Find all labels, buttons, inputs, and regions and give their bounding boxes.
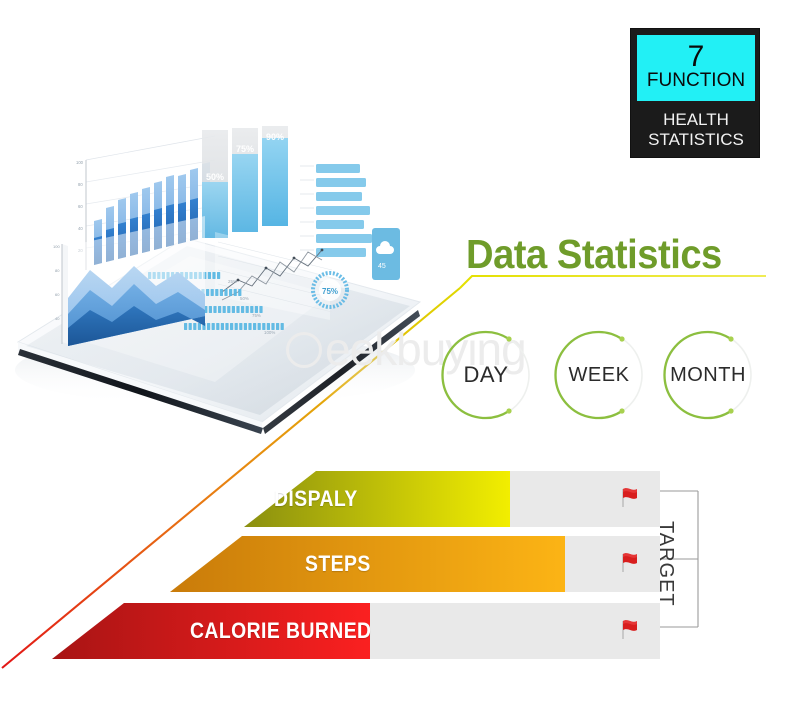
target-flag-icon <box>616 550 642 576</box>
svg-text:50%: 50% <box>240 296 249 301</box>
target-label: TARGET <box>654 521 677 607</box>
watermark-logo-icon <box>286 332 322 368</box>
page-title: Data Statistics <box>466 232 722 276</box>
badge-function-label: FUNCTION <box>647 70 745 92</box>
period-ring-month[interactable]: MONTH <box>659 326 757 424</box>
period-selector: DAY WEEK MONTH <box>437 326 777 426</box>
svg-text:25%: 25% <box>228 279 237 284</box>
svg-text:60: 60 <box>78 204 83 209</box>
seven-function-badge: 7 FUNCTION HEALTH STATISTICS <box>630 28 760 158</box>
svg-text:75%: 75% <box>322 287 338 296</box>
svg-text:60: 60 <box>55 292 60 297</box>
badge-number: 7 <box>688 44 705 70</box>
svg-text:90%: 90% <box>266 132 284 142</box>
bar-label: DISPALY <box>274 471 358 527</box>
svg-text:75%: 75% <box>252 313 261 318</box>
svg-text:80: 80 <box>78 182 83 187</box>
svg-text:75%: 75% <box>236 144 254 154</box>
target-flag-icon <box>616 617 642 643</box>
badge-function-panel: 7 FUNCTION <box>637 35 755 101</box>
svg-text:80: 80 <box>55 268 60 273</box>
svg-text:40: 40 <box>55 316 60 321</box>
svg-text:40: 40 <box>78 226 83 231</box>
period-ring-day[interactable]: DAY <box>437 326 535 424</box>
period-ring-week-label: WEEK <box>550 326 648 424</box>
svg-text:100%: 100% <box>264 330 275 335</box>
tablet-analytics-illustration: 100 80 60 40 20 <box>0 120 430 490</box>
period-ring-month-label: MONTH <box>659 326 757 424</box>
badge-health-statistics-panel: HEALTH STATISTICS <box>637 105 755 155</box>
svg-text:100: 100 <box>53 244 60 249</box>
infographic-canvas: 100 80 60 40 20 <box>0 0 800 712</box>
bar-label: STEPS <box>305 536 371 592</box>
bar-label: CALORIE BURNED <box>190 603 371 659</box>
target-flag-icon <box>616 485 642 511</box>
badge-line-1: HEALTH <box>663 110 729 130</box>
period-ring-day-label: DAY <box>437 326 535 424</box>
period-ring-week[interactable]: WEEK <box>550 326 648 424</box>
svg-text:45: 45 <box>378 263 386 270</box>
svg-text:50%: 50% <box>206 172 224 182</box>
svg-text:100: 100 <box>76 160 84 165</box>
badge-line-2: STATISTICS <box>648 130 744 150</box>
